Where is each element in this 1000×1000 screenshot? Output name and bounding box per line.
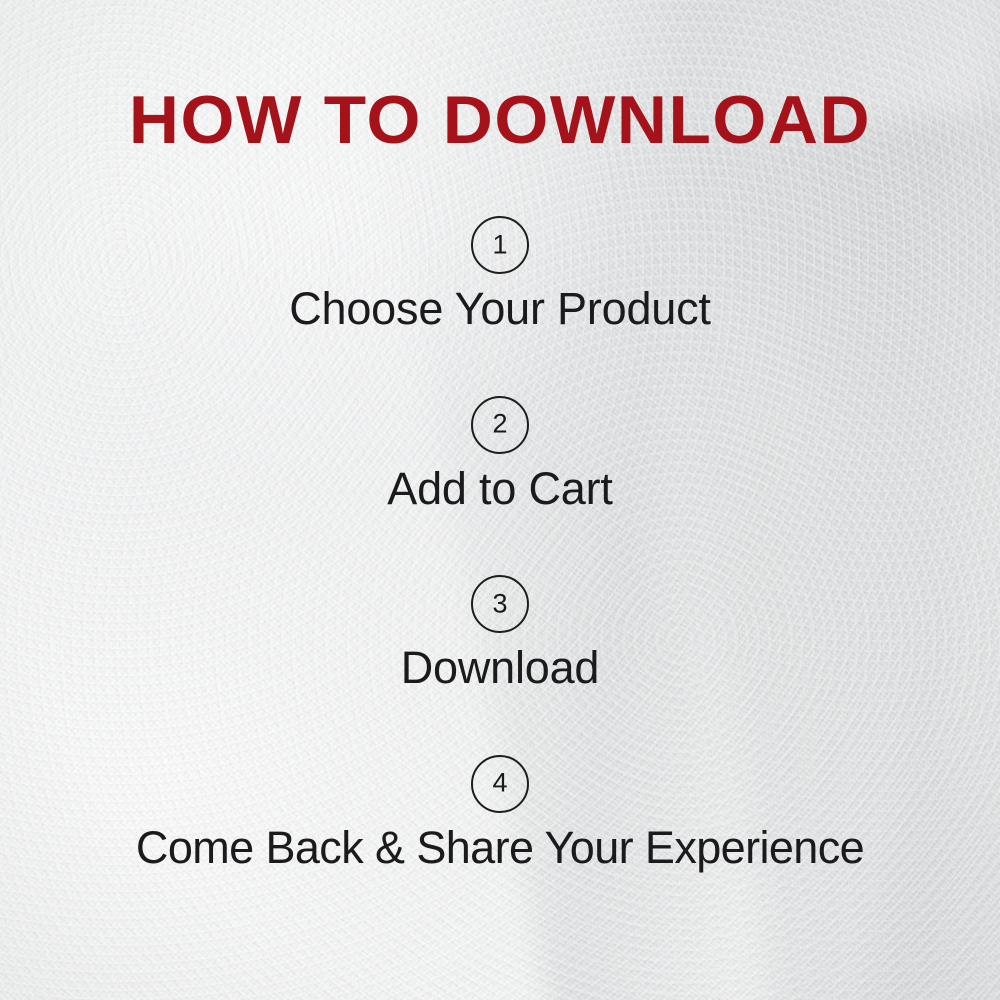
step-number-badge-4: 4 <box>471 755 529 813</box>
step-number-text: 4 <box>492 770 507 797</box>
step-item-1: 1 Choose Your Product <box>0 216 1000 334</box>
step-label-2: Add to Cart <box>0 465 1000 514</box>
step-item-4: 4 Come Back & Share Your Experience <box>0 755 1000 873</box>
step-number-text: 2 <box>492 411 507 438</box>
step-label-4: Come Back & Share Your Experience <box>0 824 1000 873</box>
steps-list: 1 Choose Your Product 2 Add to Cart 3 Do… <box>0 216 1000 872</box>
step-label-3: Download <box>0 644 1000 693</box>
step-number-badge-1: 1 <box>471 216 529 274</box>
step-number-text: 1 <box>492 231 507 258</box>
step-item-3: 3 Download <box>0 575 1000 693</box>
promo-graphic-canvas: HOW TO DOWNLOAD 1 Choose Your Product 2 … <box>0 0 1000 1000</box>
step-label-1: Choose Your Product <box>0 285 1000 334</box>
step-number-badge-3: 3 <box>471 575 529 633</box>
step-item-2: 2 Add to Cart <box>0 396 1000 514</box>
page-title: HOW TO DOWNLOAD <box>0 86 1000 154</box>
content-layer: HOW TO DOWNLOAD 1 Choose Your Product 2 … <box>0 0 1000 1000</box>
step-number-text: 3 <box>492 590 507 617</box>
step-number-badge-2: 2 <box>471 396 529 454</box>
